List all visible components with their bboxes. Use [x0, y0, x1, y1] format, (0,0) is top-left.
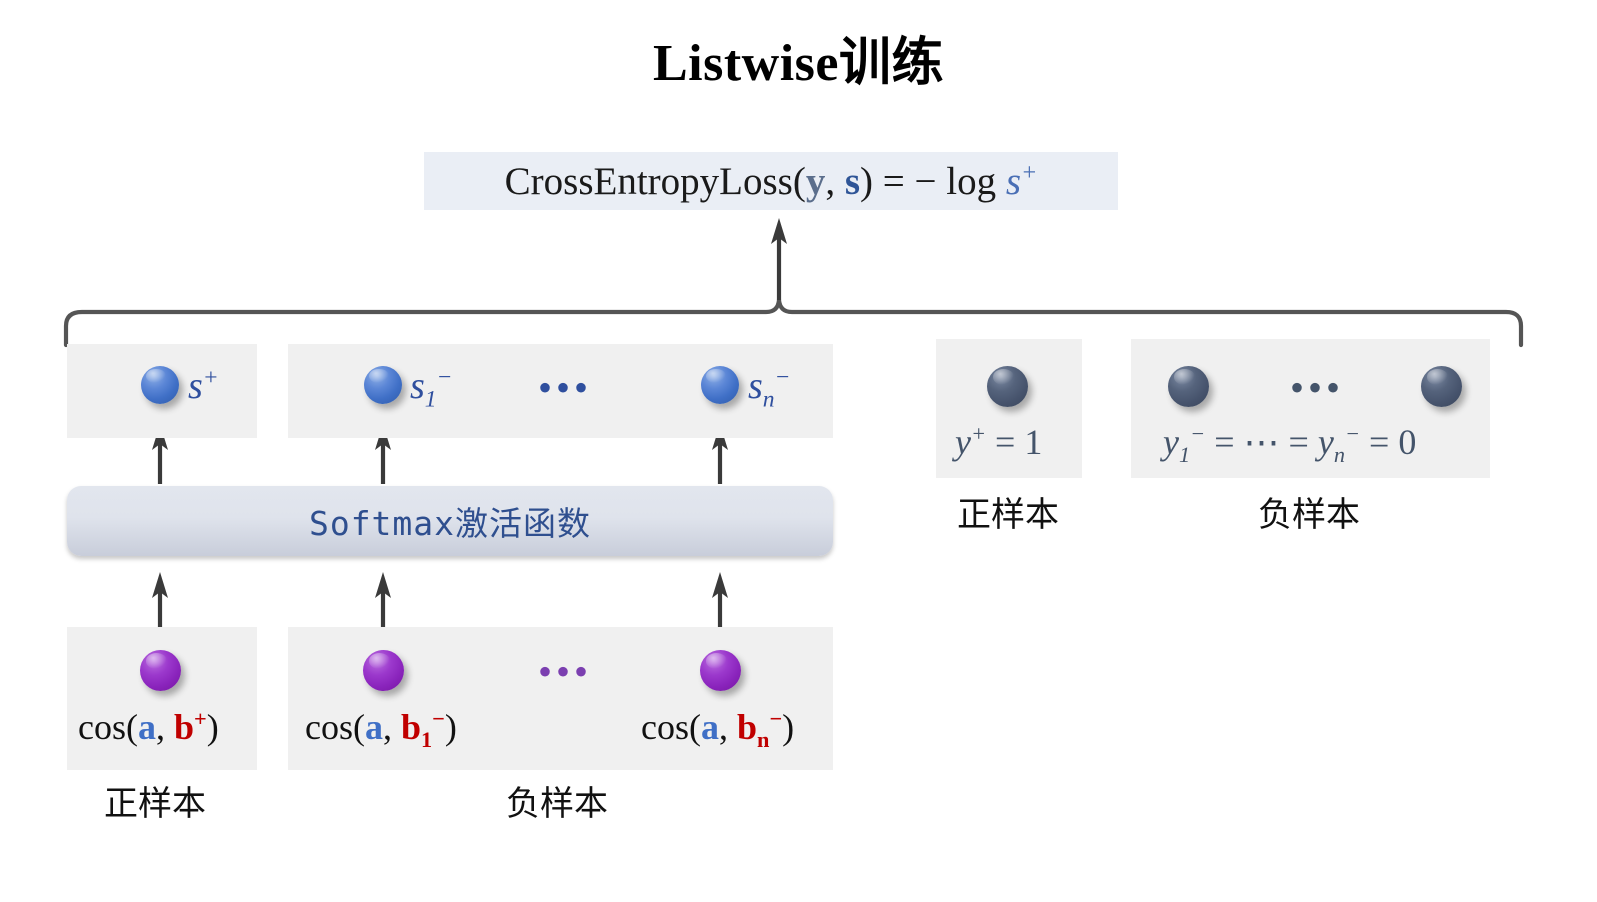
- cosine-positive-label: cos(a, b+): [78, 709, 219, 745]
- cos-negn-suffix: ): [782, 707, 794, 747]
- score-negative-last-sphere: [701, 366, 739, 404]
- softmax-activation-bar[interactable]: Softmax激活函数: [67, 486, 833, 556]
- score-neg1-superscript: −: [437, 364, 453, 390]
- cosine-ellipsis: •••: [538, 652, 592, 692]
- cosine-negative-last-label: cos(a, bn−): [641, 709, 794, 745]
- cos-negn-subscript: n: [757, 727, 769, 752]
- cos-negn-superscript: −: [769, 706, 782, 731]
- loss-arg-y: y: [806, 160, 826, 203]
- cosine-positive-box: [67, 627, 257, 770]
- score-positive-label: s+: [188, 367, 219, 405]
- cos-neg1-subscript: 1: [421, 727, 432, 752]
- cos-negn-vector-b: bn−: [737, 707, 782, 747]
- loss-minus-log: − log: [915, 160, 1006, 203]
- page-title: Listwise训练: [0, 20, 1597, 95]
- target-neg-middots: ⋯: [1244, 422, 1280, 462]
- target-ellipsis: •••: [1290, 368, 1344, 408]
- cos-pos-superscript: +: [194, 706, 207, 731]
- cos-neg1-comma: ,: [383, 707, 401, 747]
- cos-negn-comma: ,: [719, 707, 737, 747]
- cos-negn-vector-a: a: [701, 707, 719, 747]
- score-negn-subscript: n: [763, 387, 775, 413]
- target-neg-value: 0: [1398, 422, 1416, 462]
- score-negn-symbol: s: [748, 365, 763, 407]
- target-neg1-subscript: 1: [1179, 442, 1190, 467]
- target-negn-subscript: n: [1334, 442, 1345, 467]
- target-negative-last-sphere: [1421, 366, 1462, 407]
- arrow-cos-neg1-to-softmax-head: [375, 572, 391, 598]
- target-positive-sphere: [987, 366, 1028, 407]
- cosine-negative-first-label: cos(a, b1−): [305, 709, 457, 745]
- loss-result-superscript: +: [1021, 159, 1037, 186]
- score-neg1-subscript: 1: [425, 387, 437, 413]
- loss-open-paren: (: [793, 160, 806, 203]
- cos-pos-suffix: ): [207, 707, 219, 747]
- label-right-negative: 负样本: [1258, 499, 1360, 533]
- cos-neg1-vector-a: a: [365, 707, 383, 747]
- cosine-negative-first-sphere: [363, 650, 404, 691]
- arrow-cos-positive-to-softmax-head: [152, 572, 168, 598]
- diagram-canvas: Listwise训练 CrossEntropyLoss(y, s) = − lo…: [0, 0, 1597, 902]
- cosine-negative-last-sphere: [700, 650, 741, 691]
- cos-neg1-suffix: ): [445, 707, 457, 747]
- loss-formula-text: CrossEntropyLoss(y, s) = − log s+: [505, 162, 1038, 201]
- loss-result-symbol: s: [1006, 160, 1021, 203]
- score-negn-superscript: −: [775, 364, 791, 390]
- loss-close-paren: ): [860, 160, 873, 203]
- arrow-cos-negn-to-softmax-head: [712, 572, 728, 598]
- target-neg1-symbol: y: [1163, 422, 1179, 462]
- loss-arg-s: s: [845, 160, 860, 203]
- cos-negn-prefix: cos(: [641, 707, 701, 747]
- softmax-label: Softmax激活函数: [309, 497, 591, 545]
- loss-function-name: CrossEntropyLoss: [505, 160, 793, 203]
- target-pos-symbol: y: [955, 422, 971, 462]
- target-pos-equals: =: [986, 422, 1024, 462]
- target-neg-equals-2: =: [1280, 422, 1318, 462]
- target-positive-label: y+ = 1: [955, 424, 1042, 460]
- loss-equals: =: [873, 160, 915, 203]
- target-pos-value: 1: [1024, 422, 1042, 462]
- cos-neg1-vector-b: b1−: [401, 707, 445, 747]
- score-positive-symbol: s: [188, 365, 203, 407]
- label-left-negative: 负样本: [506, 788, 608, 822]
- score-negative-first-sphere: [364, 366, 402, 404]
- score-negative-first-label: s1−: [410, 367, 452, 405]
- loss-formula-box: CrossEntropyLoss(y, s) = − log s+: [424, 152, 1118, 210]
- target-neg-equals-3: =: [1360, 422, 1398, 462]
- cos-neg1-superscript: −: [432, 706, 445, 731]
- score-neg1-symbol: s: [410, 365, 425, 407]
- cos-negn-vector-b-symbol: b: [737, 707, 757, 747]
- cos-pos-prefix: cos(: [78, 707, 138, 747]
- score-negative-last-label: sn−: [748, 367, 790, 405]
- score-positive-superscript: +: [203, 364, 219, 390]
- cos-pos-comma: ,: [156, 707, 174, 747]
- target-neg1-superscript: −: [1190, 421, 1205, 446]
- target-negative-label: y1− = ⋯ = yn− = 0: [1163, 424, 1416, 460]
- target-negn-symbol: y: [1318, 422, 1334, 462]
- loss-comma: ,: [825, 160, 845, 203]
- label-right-positive: 正样本: [957, 499, 1059, 533]
- cosine-positive-sphere: [140, 650, 181, 691]
- cos-pos-vector-a: a: [138, 707, 156, 747]
- cos-pos-vector-b-symbol: b: [174, 707, 194, 747]
- loss-result: s+: [1006, 160, 1038, 203]
- target-negative-first-sphere: [1168, 366, 1209, 407]
- label-left-positive: 正样本: [104, 788, 206, 822]
- target-pos-superscript: +: [971, 421, 986, 446]
- score-ellipsis: •••: [538, 368, 592, 408]
- cos-neg1-prefix: cos(: [305, 707, 365, 747]
- target-neg-equals-1: =: [1205, 422, 1243, 462]
- score-positive-sphere: [141, 366, 179, 404]
- brace-to-loss-arrowhead: [771, 218, 787, 244]
- target-negn-superscript: −: [1345, 421, 1360, 446]
- cos-pos-vector-b: b+: [174, 707, 207, 747]
- cos-neg1-vector-b-symbol: b: [401, 707, 421, 747]
